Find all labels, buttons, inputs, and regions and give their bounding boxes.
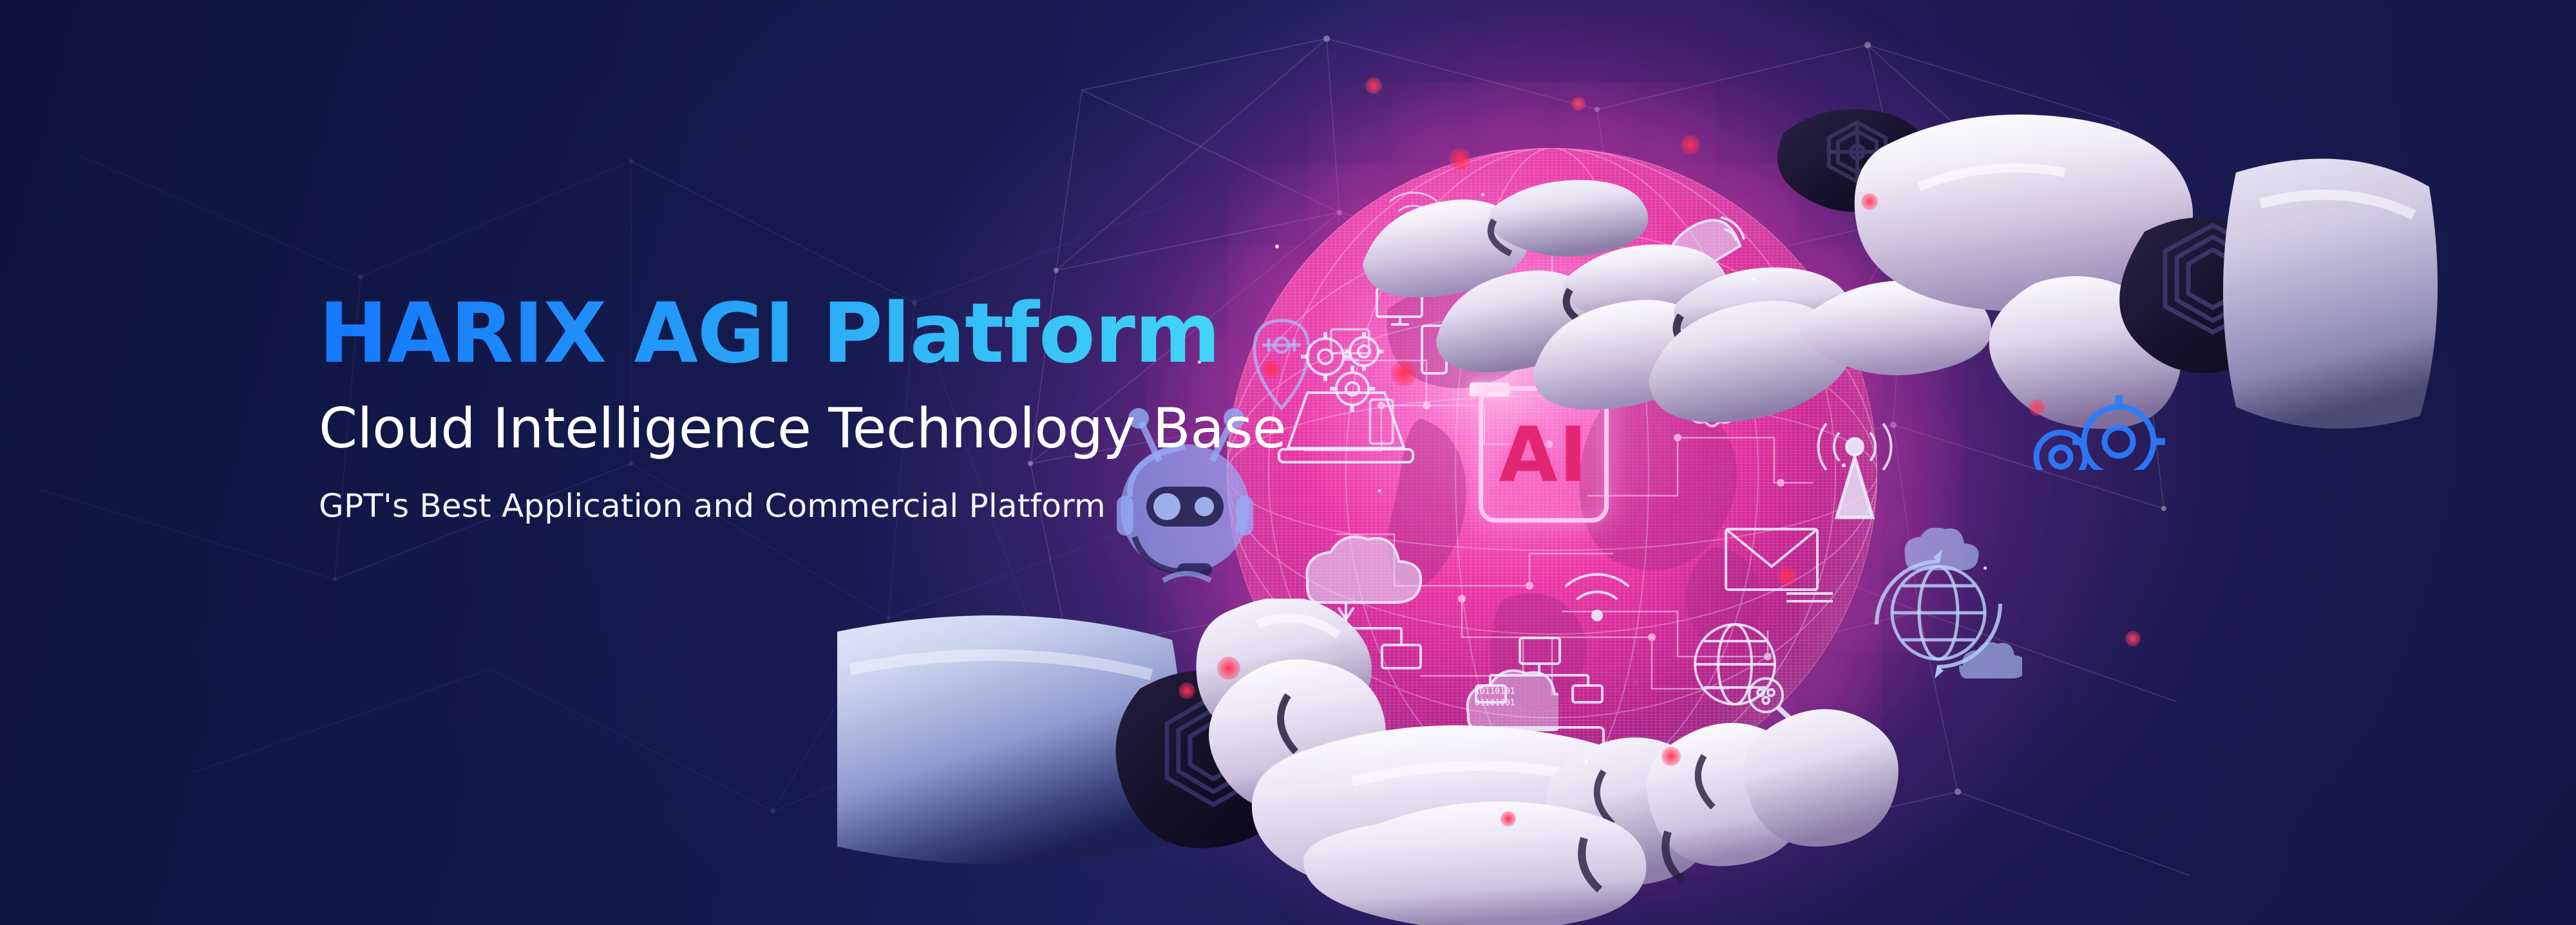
spark (1501, 811, 1516, 827)
data-block-icon (1501, 308, 1542, 357)
spark (2029, 399, 2045, 416)
hand-back (1855, 115, 2193, 312)
ai-badge-label: AI (1499, 416, 1588, 492)
wrist-gear-emblem (2036, 395, 2165, 470)
dust-particle (1984, 566, 1987, 570)
page-title: HARIX AGI Platform (319, 293, 1285, 375)
forearm-upper (2223, 159, 2438, 429)
wrist-joint-upper (2119, 218, 2290, 373)
spark (1571, 97, 1586, 111)
finger-thumb-upper (1989, 276, 2182, 429)
hero-copy-block: HARIX AGI Platform Cloud Intelligence Te… (319, 293, 1285, 524)
finger-row-lower (1303, 801, 1683, 925)
hero-banner: AI (0, 0, 2576, 925)
spark (1365, 77, 1382, 94)
globe-cloud-sync-icon (1855, 528, 2022, 689)
spark (2125, 631, 2141, 646)
ai-chip-badge: AI (1479, 386, 1609, 523)
page-tagline: GPT's Best Application and Commercial Pl… (319, 489, 1285, 524)
spark (1179, 682, 1195, 699)
page-subtitle: Cloud Intelligence Technology Base (319, 400, 1285, 458)
forearm-lower (837, 615, 1181, 864)
